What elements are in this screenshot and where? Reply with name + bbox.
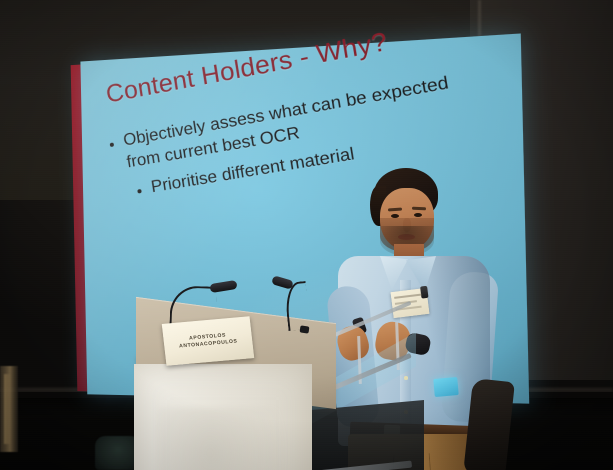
dark-garment-right bbox=[463, 378, 515, 470]
trouser-pocket-right bbox=[429, 451, 465, 470]
photograph-stage: Content Holders - Why? Objectively asses… bbox=[0, 0, 613, 470]
bullet-dot-icon bbox=[137, 189, 142, 194]
badge-clip-icon bbox=[420, 286, 428, 299]
lectern: APOSTOLOS ANTONACOPOULOS bbox=[118, 288, 373, 470]
badge-text-line bbox=[394, 293, 422, 298]
microphone-base-right bbox=[300, 325, 310, 333]
glowing-device bbox=[433, 377, 458, 397]
name-card-line-2: ANTONACOPOULOS bbox=[179, 338, 238, 351]
speaker-eye-right bbox=[414, 213, 422, 217]
lectern-panel-smudge bbox=[158, 408, 288, 470]
speaker-eye-left bbox=[391, 214, 399, 218]
shirt-button bbox=[404, 376, 408, 380]
bullet-dot-icon bbox=[110, 142, 115, 147]
speaker-name-card: APOSTOLOS ANTONACOPOULOS bbox=[162, 316, 254, 365]
wall-sconce-glow bbox=[4, 374, 11, 444]
